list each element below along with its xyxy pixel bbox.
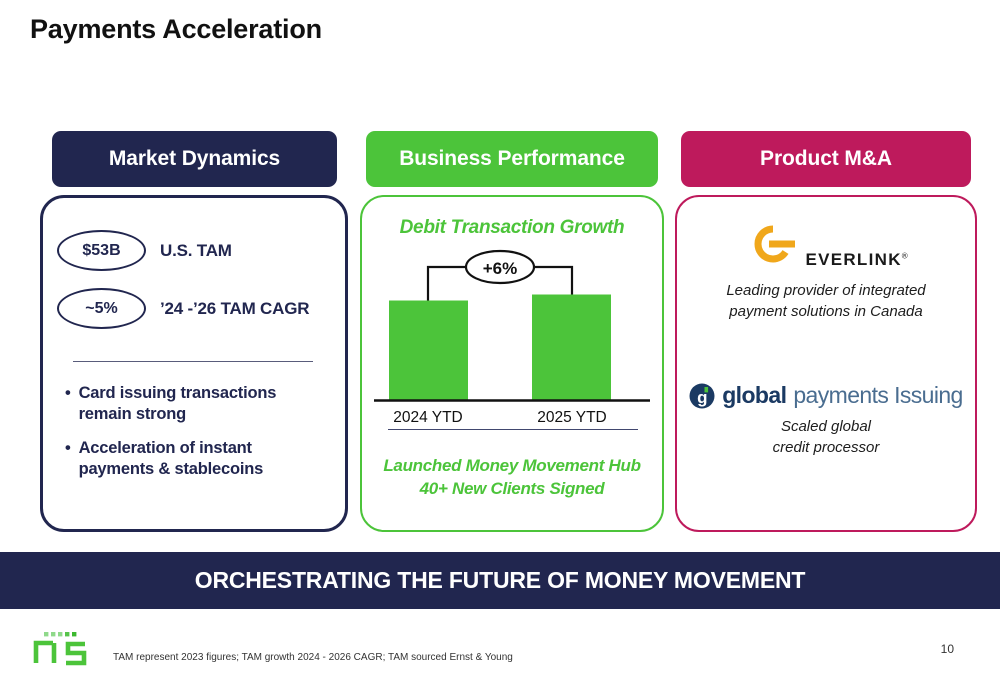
bullet-dot-icon: • (65, 438, 71, 480)
stat-label-us-tam: U.S. TAM (160, 241, 232, 261)
bottom-banner: ORCHESTRATING THE FUTURE OF MONEY MOVEME… (0, 552, 1000, 609)
everlink-wordmark-text: EVERLINK (805, 250, 901, 269)
brand-everlink: EVERLINK® Leading provider of integrated… (677, 223, 975, 322)
page-number: 10 (941, 642, 954, 656)
business-performance-divider (388, 429, 638, 430)
market-dynamics-divider (73, 361, 313, 362)
bar-chart-svg: +6% 2024 YTD 2025 YTD (362, 245, 666, 435)
growth-callout-label: +6% (483, 259, 518, 278)
gp-light-word: payments Issuing (793, 382, 962, 409)
column-business-performance: Business Performance Debit Transaction G… (366, 131, 658, 187)
list-item-label: Card issuing transactions remain strong (79, 383, 327, 425)
highlight-line-1: Launched Money Movement Hub (362, 455, 662, 478)
x-axis-label-2025: 2025 YTD (537, 409, 607, 426)
stat-pill-us-tam: $53B (57, 230, 146, 271)
fis-logo (32, 629, 90, 674)
gp-caption-line-1: Scaled global (677, 417, 975, 438)
stat-row-us-tam: $53B U.S. TAM (57, 230, 232, 271)
column-market-dynamics: Market Dynamics $53B U.S. TAM ~5% ’24 -’… (52, 131, 337, 187)
stat-label-tam-cagr: ’24 -’26 TAM CAGR (160, 299, 309, 319)
chart-title: Debit Transaction Growth (362, 217, 662, 239)
gp-green-accent-shape (705, 387, 709, 392)
business-performance-body: Debit Transaction Growth +6% 2024 YTD 20… (360, 195, 664, 532)
everlink-icon (743, 223, 801, 265)
product-manda-header: Product M&A (681, 131, 971, 187)
debit-transaction-growth-chart: +6% 2024 YTD 2025 YTD (362, 245, 662, 440)
footnote: TAM represent 2023 figures; TAM growth 2… (113, 652, 513, 663)
fis-logo-icon (32, 629, 90, 669)
everlink-bar-shape (769, 241, 795, 248)
market-dynamics-header: Market Dynamics (52, 131, 337, 187)
bar-2025-ytd (532, 295, 611, 401)
fis-letters-shape (36, 643, 85, 663)
trademark-icon: ® (902, 251, 909, 260)
column-product-manda: Product M&A EVERLINK® Leading provider o… (681, 131, 971, 187)
gp-bold-word: global (722, 382, 786, 409)
market-dynamics-body: $53B U.S. TAM ~5% ’24 -’26 TAM CAGR • Ca… (40, 195, 348, 532)
stat-pill-tam-cagr: ~5% (57, 288, 146, 329)
banner-label: ORCHESTRATING THE FUTURE OF MONEY MOVEME… (195, 567, 805, 594)
everlink-caption-line-2: payment solutions in Canada (677, 302, 975, 323)
everlink-caption: Leading provider of integrated payment s… (677, 281, 975, 322)
everlink-wordmark: EVERLINK® (805, 250, 909, 270)
market-dynamics-bullet-list: • Card issuing transactions remain stron… (65, 383, 327, 493)
global-payments-wordmark: g globalpayments Issuing (677, 382, 975, 409)
everlink-caption-line-1: Leading provider of integrated (677, 281, 975, 302)
fis-dots-shape (44, 632, 76, 636)
product-manda-body: EVERLINK® Leading provider of integrated… (675, 195, 977, 532)
bar-2024-ytd (389, 301, 468, 401)
list-item: • Card issuing transactions remain stron… (65, 383, 327, 425)
list-item: • Acceleration of instant payments & sta… (65, 438, 327, 480)
global-payments-icon: g (689, 383, 715, 409)
gp-caption-line-2: credit processor (677, 438, 975, 459)
highlight-line-2: 40+ New Clients Signed (362, 478, 662, 501)
global-payments-caption: Scaled global credit processor (677, 417, 975, 458)
business-performance-highlight: Launched Money Movement Hub 40+ New Clie… (362, 455, 662, 500)
brand-global-payments-issuing: g globalpayments Issuing Scaled global c… (677, 382, 975, 458)
x-axis-label-2024: 2024 YTD (393, 409, 463, 426)
bullet-dot-icon: • (65, 383, 71, 425)
stat-row-tam-cagr: ~5% ’24 -’26 TAM CAGR (57, 288, 309, 329)
list-item-label: Acceleration of instant payments & stabl… (79, 438, 327, 480)
business-performance-header: Business Performance (366, 131, 658, 187)
page-title: Payments Acceleration (30, 14, 322, 45)
